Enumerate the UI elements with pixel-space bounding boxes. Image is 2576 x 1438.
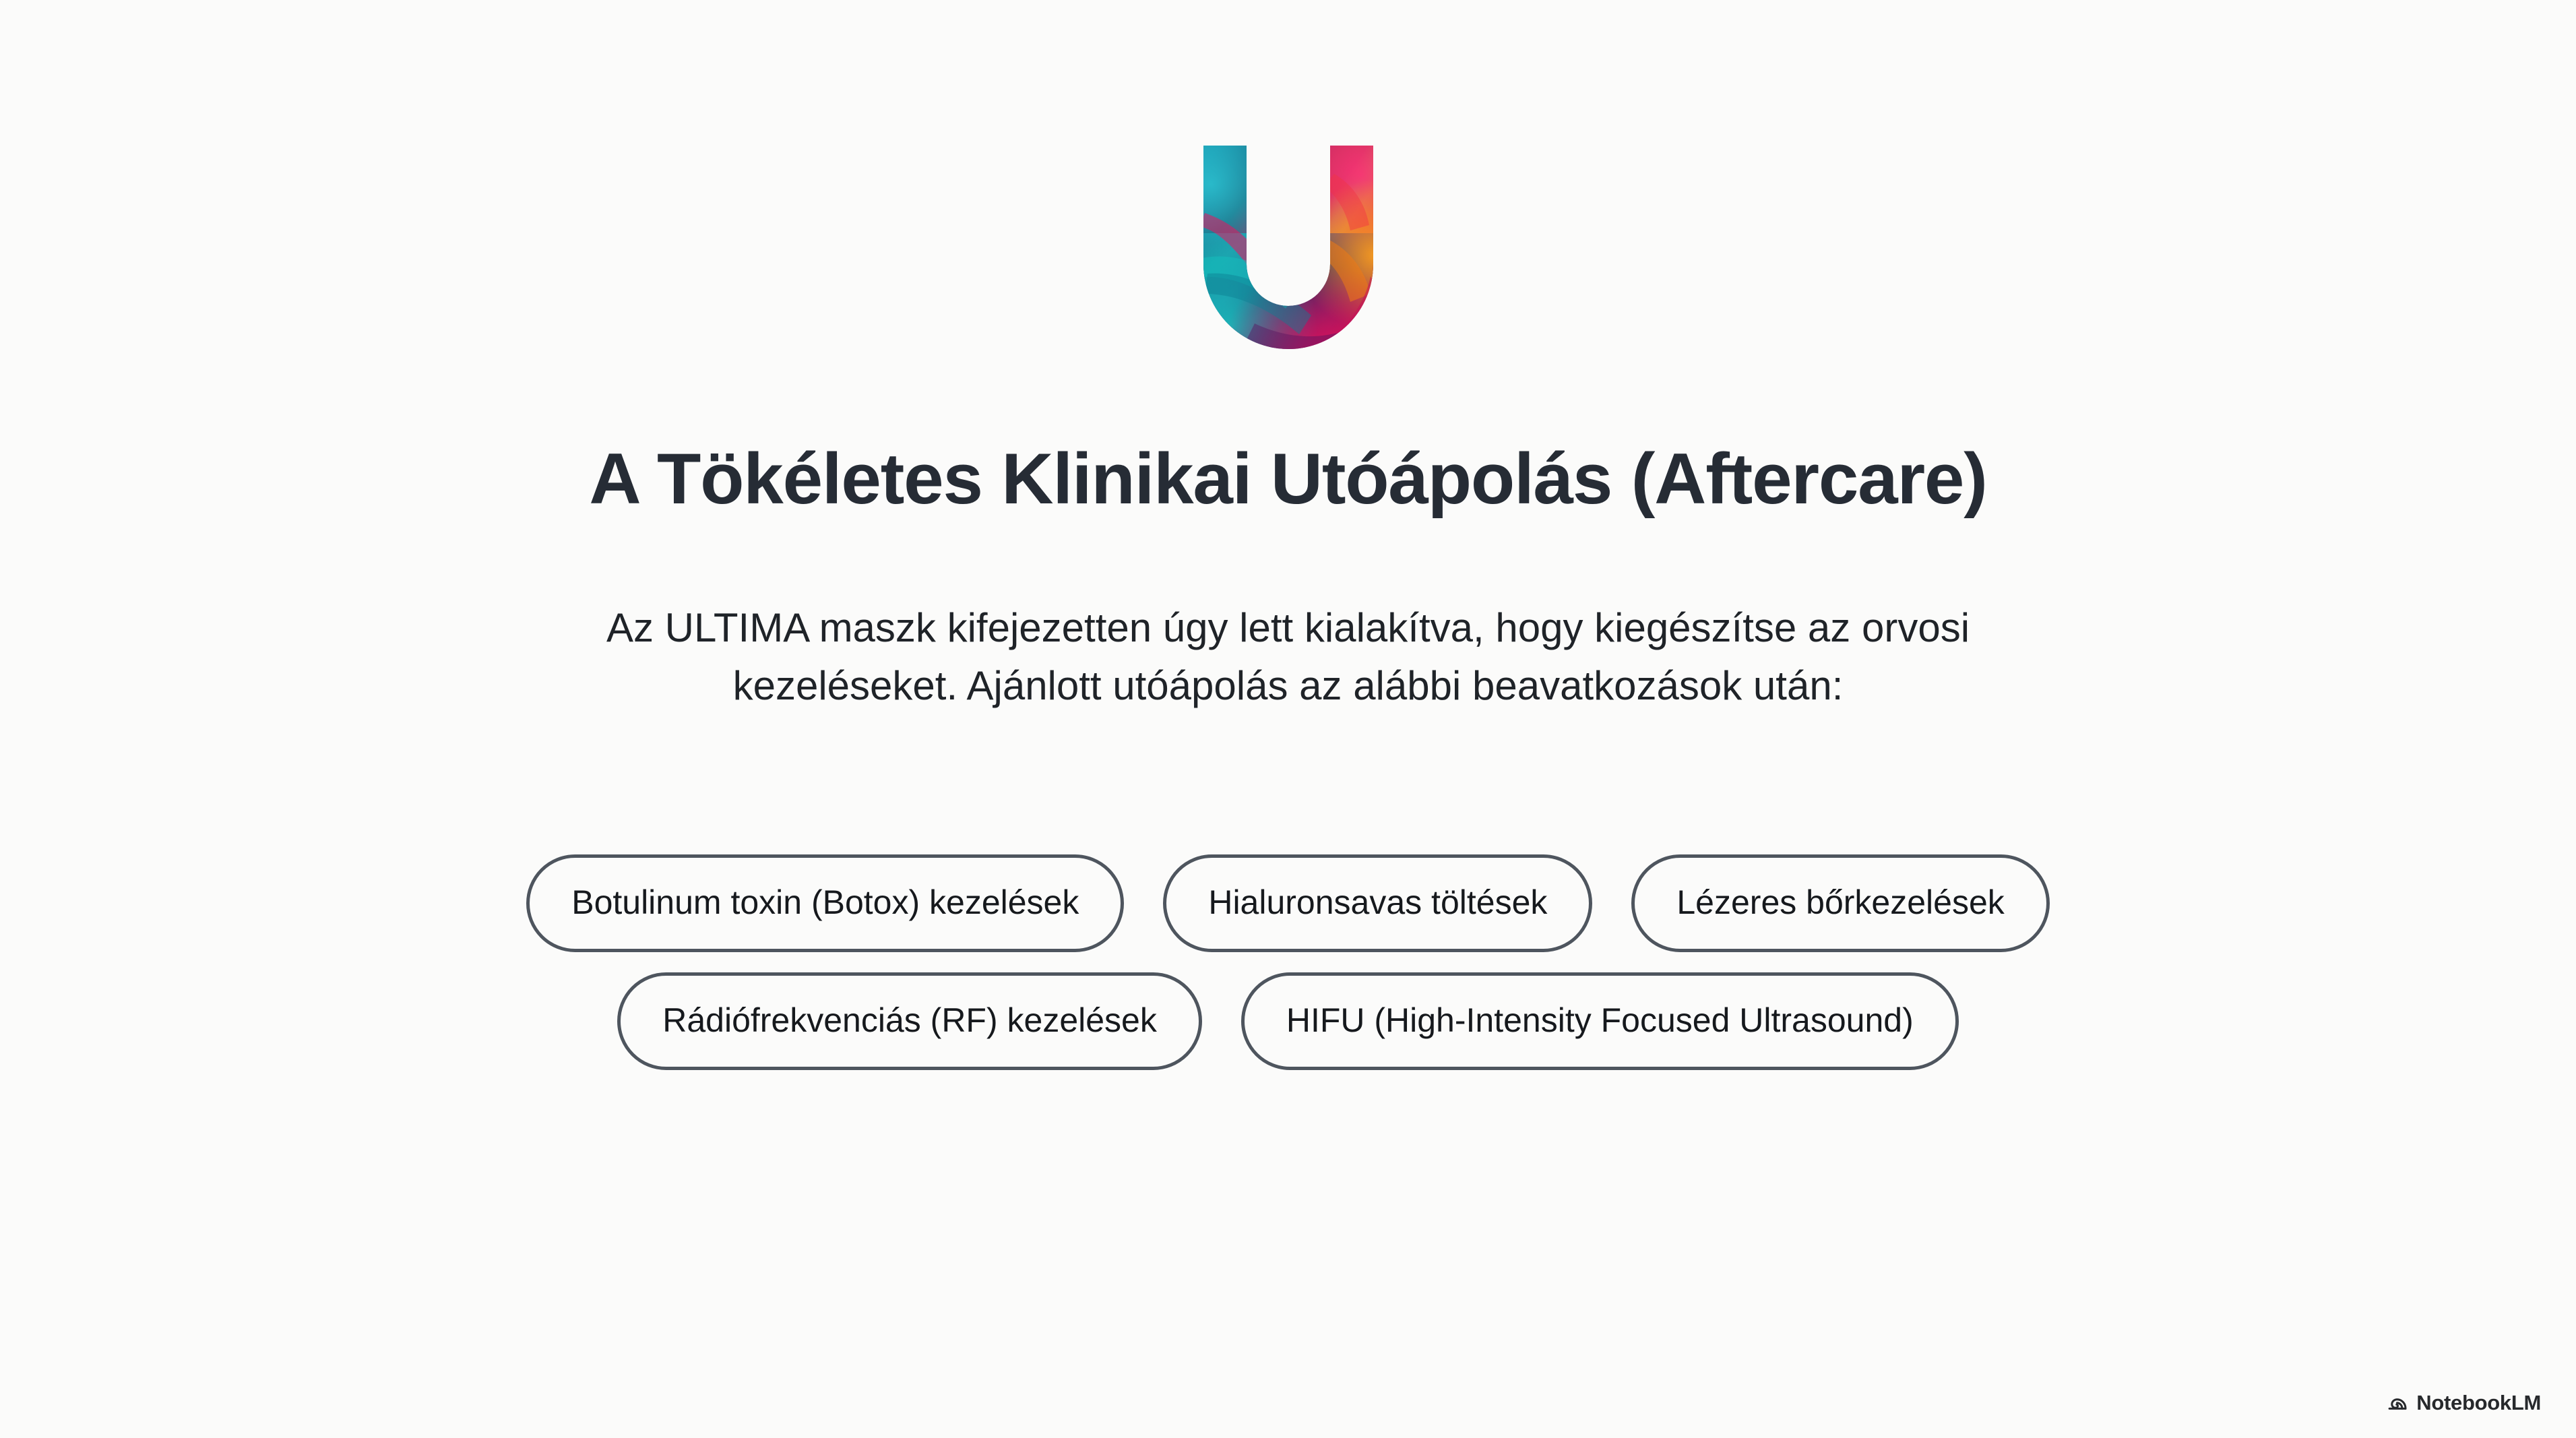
pill-hifu[interactable]: HIFU (High-Intensity Focused Ultrasound)	[1241, 972, 1959, 1070]
brand-logo	[1167, 132, 1410, 369]
treatment-pill-row-2: Rádiófrekvenciás (RF) kezelések HIFU (Hi…	[617, 972, 1958, 1070]
treatment-pill-row-1: Botulinum toxin (Botox) kezelések Hialur…	[526, 854, 2050, 952]
subtitle-line-2: kezeléseket. Ajánlott utóápolás az alább…	[606, 657, 1970, 714]
subtitle: Az ULTIMA maszk kifejezetten úgy lett ki…	[606, 599, 1970, 714]
pill-laser-skin[interactable]: Lézeres bőrkezelések	[1631, 854, 2049, 952]
treatment-pill-group: Botulinum toxin (Botox) kezelések Hialur…	[89, 854, 2488, 1070]
notebooklm-watermark: NotebookLM	[2386, 1391, 2541, 1414]
pill-radiofrequency[interactable]: Rádiófrekvenciás (RF) kezelések	[617, 972, 1202, 1070]
slide-root: A Tökéletes Klinikai Utóápolás (Aftercar…	[0, 0, 2576, 1438]
pill-hyaluronic-filler[interactable]: Hialuronsavas töltések	[1163, 854, 1592, 952]
ultima-u-logo-icon	[1167, 132, 1410, 369]
pill-botox[interactable]: Botulinum toxin (Botox) kezelések	[526, 854, 1124, 952]
notebooklm-watermark-label: NotebookLM	[2416, 1392, 2541, 1413]
page-title: A Tökéletes Klinikai Utóápolás (Aftercar…	[589, 439, 1986, 519]
notebooklm-spiral-icon	[2386, 1391, 2409, 1414]
subtitle-line-1: Az ULTIMA maszk kifejezetten úgy lett ki…	[606, 599, 1970, 656]
